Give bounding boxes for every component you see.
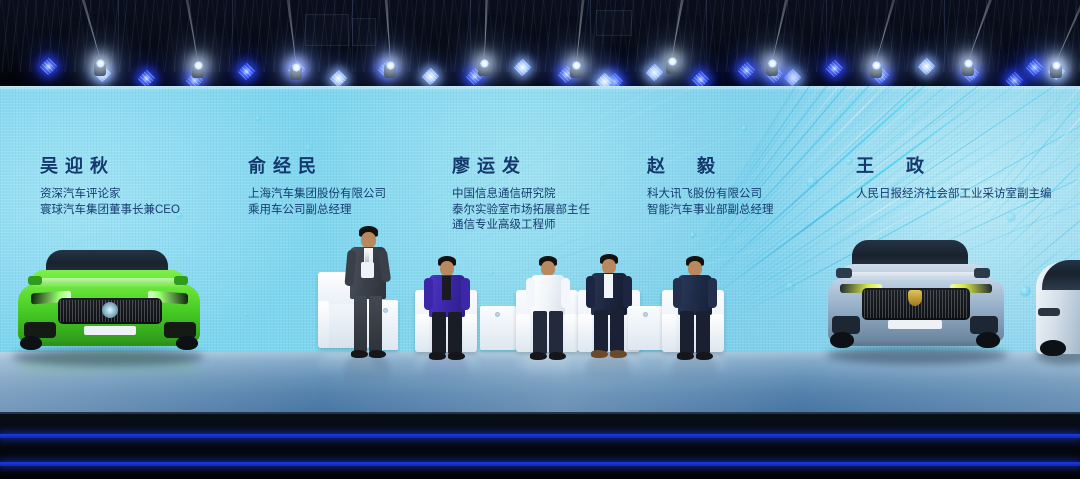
spotlight-lamp-9 bbox=[964, 59, 973, 68]
panelist-2-leg-right bbox=[549, 311, 563, 354]
spotlight-lamp-2 bbox=[292, 63, 301, 72]
silver-suv-plate bbox=[888, 320, 942, 329]
spotlight-lamp-0 bbox=[96, 59, 105, 68]
panelist-2-line-0: 中国信息通信研究院 bbox=[452, 187, 590, 203]
panelist-4-head bbox=[688, 261, 702, 276]
panelist-2-name: 廖运发 bbox=[452, 152, 590, 178]
person-panelist-3 bbox=[586, 254, 632, 360]
panelist-1-shoe-right bbox=[448, 352, 465, 360]
panelist-block-3: 赵 毅科大讯飞股份有限公司智能汽车事业部副总经理 bbox=[647, 152, 774, 218]
side-table-1 bbox=[480, 306, 516, 350]
panelist-4-name: 王 政 bbox=[856, 152, 1052, 178]
panelist-block-4: 王 政人民日报经济社会部工业采访室副主编 bbox=[856, 152, 1052, 203]
spotlight-lamp-8 bbox=[872, 61, 881, 70]
green-sedan-shadow bbox=[12, 348, 204, 366]
panelist-2-head bbox=[541, 261, 555, 276]
panelist-1-head bbox=[440, 261, 454, 276]
panelist-4-leg-right bbox=[696, 311, 710, 354]
led-strip-upper bbox=[0, 434, 1080, 438]
panelist-4-arm-right bbox=[708, 278, 717, 308]
panelist-4-navy-polo bbox=[678, 275, 712, 315]
spotlight-lamp-10 bbox=[1052, 61, 1061, 70]
side-table-2 bbox=[628, 306, 664, 350]
moderator-shoe-right bbox=[369, 350, 386, 358]
panelist-4-line-0: 人民日报经济社会部工业采访室副主编 bbox=[856, 187, 1052, 203]
panelist-1-inner-shirt bbox=[442, 276, 451, 300]
panelist-2-shoe-left bbox=[530, 352, 547, 360]
panelist-1-arm-left bbox=[424, 278, 433, 310]
silver-suv-shadow bbox=[826, 346, 1008, 364]
ceiling-hatch-3 bbox=[596, 10, 632, 36]
panelist-2-arm-right bbox=[561, 278, 570, 308]
green-sedan-wheel-right bbox=[176, 336, 198, 350]
panelist-1-arm-right bbox=[461, 278, 470, 310]
moderator-name-card bbox=[361, 262, 374, 278]
spotlight-lamp-4 bbox=[480, 59, 489, 68]
panelist-4-arm-left bbox=[673, 278, 682, 308]
ceiling-truss bbox=[0, 0, 1080, 92]
panelist-3-head bbox=[602, 259, 616, 274]
led-strip-lower bbox=[0, 462, 1080, 466]
panelist-3-line-0: 科大讯飞股份有限公司 bbox=[647, 187, 774, 203]
panelist-block-2: 廖运发中国信息通信研究院泰尔实验室市场拓展部主任通信专业高级工程师 bbox=[452, 152, 590, 234]
panelist-1-leg-right bbox=[448, 312, 462, 354]
stage-lip bbox=[0, 412, 1080, 414]
spotlight-lamp-3 bbox=[386, 61, 395, 70]
panelist-0-line-1: 寰球汽车集团董事长兼CEO bbox=[40, 203, 180, 219]
panelist-3-shoe-right bbox=[610, 350, 627, 358]
panelist-1-line-0: 上海汽车集团股份有限公司 bbox=[248, 187, 386, 203]
panelist-3-arm-left bbox=[586, 276, 595, 308]
moderator-head bbox=[361, 232, 376, 248]
panelist-block-1: 俞经民上海汽车集团股份有限公司乘用车公司副总经理 bbox=[248, 152, 386, 218]
silver-suv-wheel-left bbox=[830, 332, 854, 348]
panelist-4-shoe-left bbox=[677, 352, 694, 360]
moderator-leg-right bbox=[369, 296, 382, 352]
spotlight-lamp-6 bbox=[668, 57, 677, 66]
panelist-2-leg-left bbox=[533, 311, 547, 354]
spotlight-lamp-7 bbox=[768, 59, 777, 68]
panelist-3-leg-right bbox=[610, 310, 624, 352]
panelist-3-white-shirt bbox=[604, 274, 613, 298]
panelist-2-line-2: 通信专业高级工程师 bbox=[452, 218, 590, 234]
panelist-2-arm-left bbox=[526, 278, 535, 308]
stage-photo: 吴迎秋资深汽车评论家寰球汽车集团董事长兼CEO俞经民上海汽车集团股份有限公司乘用… bbox=[0, 0, 1080, 479]
spotlight-lamp-1 bbox=[194, 61, 203, 70]
silver-suv-intake-left bbox=[832, 316, 860, 334]
white-car-trim bbox=[1038, 308, 1060, 316]
side-table-2-item bbox=[643, 312, 648, 317]
vehicle-silver-suv bbox=[818, 240, 1014, 366]
person-panelist-4 bbox=[672, 256, 718, 360]
green-sedan-plate bbox=[84, 326, 136, 335]
panelist-2-white-shirt bbox=[531, 275, 565, 315]
green-sedan-hood-highlight bbox=[32, 278, 184, 288]
panelist-4-shoe-right bbox=[696, 352, 713, 360]
panelist-2-shoe-right bbox=[549, 352, 566, 360]
silver-suv-emblem bbox=[908, 290, 922, 306]
armchair-0-arm-left bbox=[318, 301, 329, 348]
silver-suv-hood-highlight bbox=[842, 272, 986, 281]
panelist-1-name: 俞经民 bbox=[248, 152, 386, 178]
panelist-0-line-0: 资深汽车评论家 bbox=[40, 187, 180, 203]
ceiling-hatch-1 bbox=[305, 14, 349, 46]
moderator-shoe-left bbox=[351, 350, 368, 358]
green-sedan-wheel-left bbox=[20, 336, 42, 350]
panelist-2-line-1: 泰尔实验室市场拓展部主任 bbox=[452, 203, 590, 219]
moderator-leg-left bbox=[354, 296, 367, 352]
person-panelist-2 bbox=[525, 256, 571, 360]
green-sedan-mirror-right bbox=[174, 276, 188, 285]
silver-suv-wheel-right bbox=[976, 332, 1000, 348]
panelist-3-shoe-left bbox=[591, 350, 608, 358]
panelist-3-arm-right bbox=[623, 276, 632, 308]
panelist-0-name: 吴迎秋 bbox=[40, 152, 180, 178]
panelist-3-name: 赵 毅 bbox=[647, 152, 774, 178]
white-car-wheel bbox=[1040, 340, 1066, 356]
panelist-block-0: 吴迎秋资深汽车评论家寰球汽车集团董事长兼CEO bbox=[40, 152, 180, 218]
green-sedan-mirror-left bbox=[28, 276, 42, 285]
vehicle-green-sedan bbox=[6, 248, 211, 366]
panelist-3-leg-left bbox=[594, 310, 608, 352]
silver-suv-mirror-right bbox=[974, 268, 990, 278]
person-moderator-standing bbox=[344, 226, 392, 360]
vehicle-white-partial bbox=[1036, 258, 1080, 366]
spotlight-lamp-5 bbox=[572, 61, 581, 70]
person-panelist-1 bbox=[424, 256, 470, 360]
stage-apron bbox=[0, 412, 1080, 479]
green-sedan-emblem bbox=[102, 302, 118, 318]
panelist-1-leg-left bbox=[432, 312, 446, 354]
panelist-1-shoe-left bbox=[429, 352, 446, 360]
ceiling-hatch-2 bbox=[352, 18, 376, 46]
side-table-1-item bbox=[495, 312, 500, 317]
panelist-1-line-1: 乘用车公司副总经理 bbox=[248, 203, 386, 219]
silver-suv-mirror-left bbox=[836, 268, 852, 278]
white-car-windshield bbox=[1042, 260, 1080, 290]
panelist-3-line-1: 智能汽车事业部副总经理 bbox=[647, 203, 774, 219]
panelist-4-leg-left bbox=[680, 311, 694, 354]
